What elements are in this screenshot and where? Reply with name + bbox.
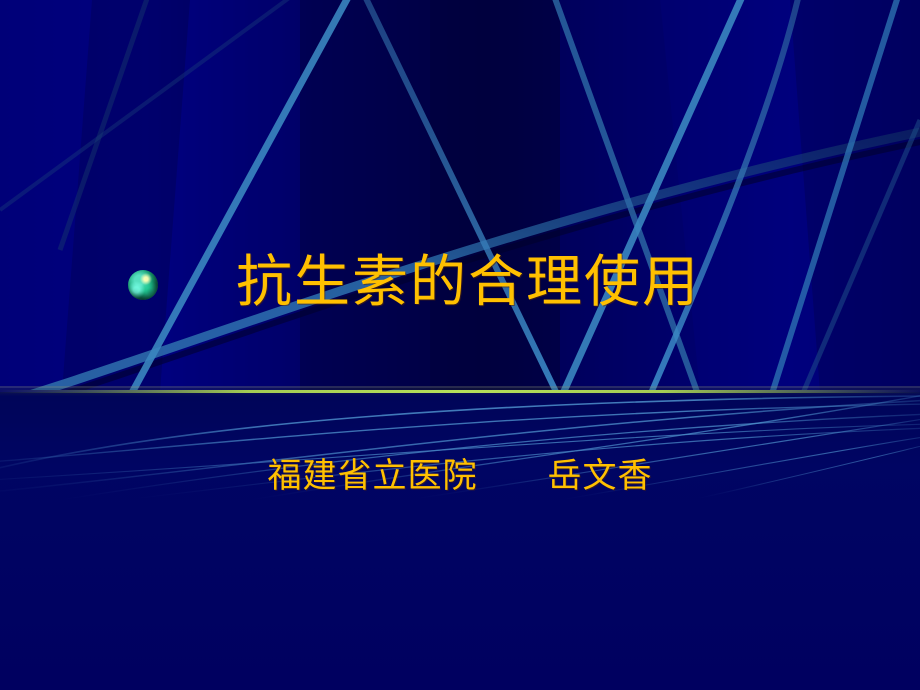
slide-title-block: 抗生素的合理使用 [0, 243, 920, 323]
title-divider [0, 386, 920, 396]
divider-shadow [0, 386, 920, 396]
divider-green-line [0, 390, 920, 393]
slide-title: 抗生素的合理使用 [236, 255, 700, 311]
slide-subtitle: 福建省立医院 岳文香 [268, 458, 653, 495]
slide-subtitle-block: 福建省立医院 岳文香 [0, 458, 920, 495]
green-sphere-bullet-icon [128, 270, 158, 300]
presentation-slide: 抗生素的合理使用 福建省立医院 岳文香 [0, 0, 920, 690]
slide-background-artwork [0, 0, 920, 690]
